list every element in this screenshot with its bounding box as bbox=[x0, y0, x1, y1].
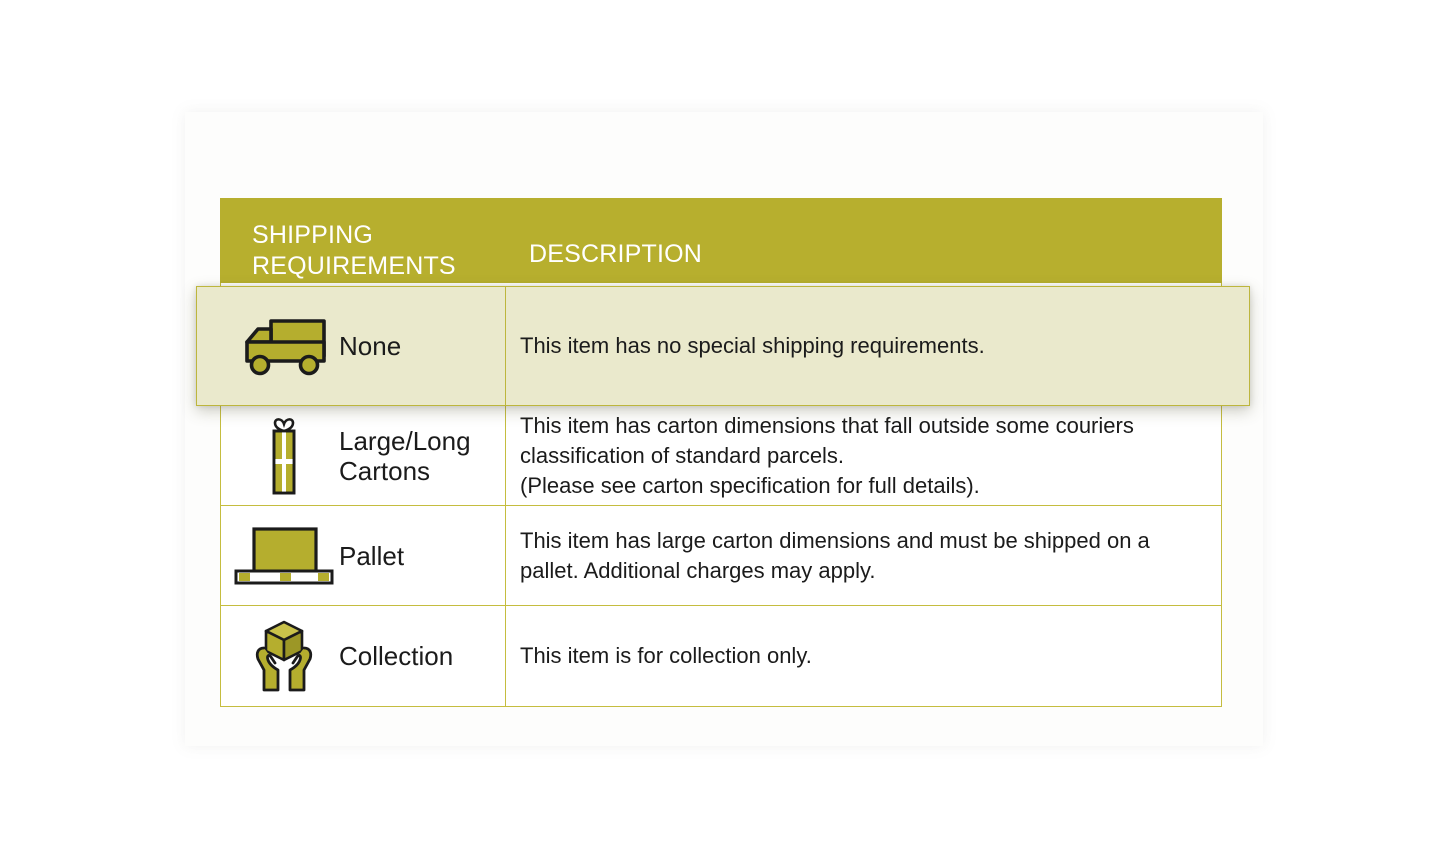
row-description: This item is for collection only. bbox=[520, 641, 812, 671]
slide-canvas: SHIPPING REQUIREMENTS DESCRIPTION bbox=[0, 0, 1445, 860]
highlighted-table-row-none[interactable]: None This item has no special shipping r… bbox=[196, 286, 1250, 406]
row-label: None bbox=[339, 331, 401, 361]
row-label-cell: Collection bbox=[221, 606, 506, 706]
row-description: This item has carton dimensions that fal… bbox=[520, 411, 1134, 501]
table-row[interactable]: Collection This item is for collection o… bbox=[221, 606, 1221, 706]
table-header-band: SHIPPING REQUIREMENTS DESCRIPTION bbox=[220, 198, 1222, 283]
delivery-truck-icon bbox=[229, 316, 339, 376]
row-description: This item has large carton dimensions an… bbox=[520, 526, 1150, 586]
row-label-cell: None bbox=[197, 287, 506, 405]
row-label: Large/Long Cartons bbox=[339, 426, 471, 486]
row-label-cell: Pallet bbox=[221, 506, 506, 605]
row-description-cell: This item has large carton dimensions an… bbox=[506, 506, 1221, 605]
column-header-shipping-requirements: SHIPPING REQUIREMENTS bbox=[252, 220, 456, 282]
row-description-cell: This item has carton dimensions that fal… bbox=[506, 406, 1221, 505]
tall-carton-parcel-icon bbox=[229, 415, 339, 497]
table-row[interactable]: Large/Long Cartons This item has carton … bbox=[221, 406, 1221, 506]
row-description: This item has no special shipping requir… bbox=[520, 331, 985, 361]
row-label: Collection bbox=[339, 641, 453, 671]
row-label: Pallet bbox=[339, 541, 404, 571]
row-description-cell: This item has no special shipping requir… bbox=[506, 331, 1249, 361]
hands-holding-box-icon bbox=[229, 618, 339, 694]
pallet-icon bbox=[229, 525, 339, 587]
row-label-cell: Large/Long Cartons bbox=[221, 406, 506, 505]
table-row[interactable]: Pallet This item has large carton dimens… bbox=[221, 506, 1221, 606]
row-description-cell: This item is for collection only. bbox=[506, 606, 1221, 706]
column-header-description: DESCRIPTION bbox=[529, 239, 702, 270]
